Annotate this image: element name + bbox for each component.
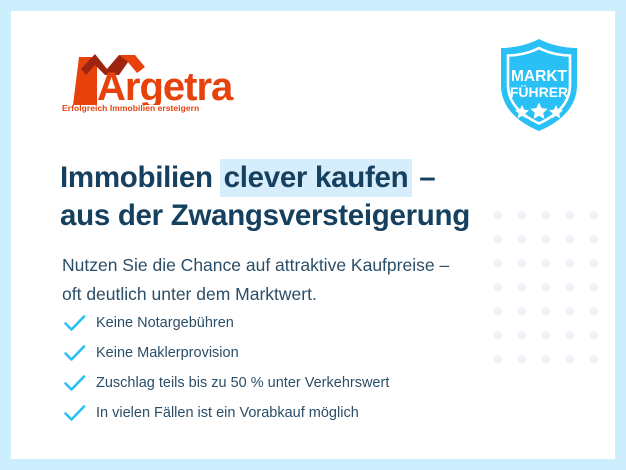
page-title: Immobilien clever kaufen – aus der Zwang… bbox=[60, 159, 540, 235]
dot bbox=[589, 355, 598, 364]
dot bbox=[541, 355, 550, 364]
dot bbox=[589, 283, 598, 292]
headline-line-2: aus der Zwangsversteigerung bbox=[60, 197, 540, 235]
benefit-list: Keine NotargebührenKeine Maklerprovision… bbox=[63, 308, 533, 428]
list-item: Keine Notargebühren bbox=[63, 308, 533, 338]
dot bbox=[565, 307, 574, 316]
dot bbox=[589, 259, 598, 268]
dot bbox=[565, 283, 574, 292]
dot bbox=[541, 235, 550, 244]
check-icon bbox=[63, 344, 87, 362]
dot bbox=[517, 235, 526, 244]
dot bbox=[589, 331, 598, 340]
headline-line-1: Immobilien clever kaufen – bbox=[60, 159, 540, 197]
list-item: Zuschlag teils bis zu 50 % unter Verkehr… bbox=[63, 368, 533, 398]
argetra-a-roof-icon: Argetra bbox=[59, 49, 259, 105]
benefit-label: In vielen Fällen ist ein Vorabkauf mögli… bbox=[96, 404, 359, 422]
list-item: Keine Maklerprovision bbox=[63, 338, 533, 368]
dot bbox=[541, 331, 550, 340]
benefit-label: Keine Notargebühren bbox=[96, 314, 234, 332]
dot bbox=[565, 355, 574, 364]
benefit-label: Zuschlag teils bis zu 50 % unter Verkehr… bbox=[96, 374, 389, 392]
dot bbox=[565, 211, 574, 220]
badge-line2: FÜHRER bbox=[510, 84, 568, 100]
markt-fuehrer-badge: MARKT FÜHRER bbox=[496, 37, 582, 133]
dot bbox=[589, 235, 598, 244]
argetra-logo[interactable]: Argetra Erfolgreich Immobilien ersteiger… bbox=[59, 49, 259, 123]
dot bbox=[565, 235, 574, 244]
shield-icon: MARKT FÜHRER bbox=[496, 37, 582, 133]
headline-highlight: clever kaufen bbox=[220, 159, 413, 197]
dot bbox=[541, 211, 550, 220]
promo-banner: Argetra Erfolgreich Immobilien ersteiger… bbox=[0, 0, 626, 470]
dot bbox=[589, 307, 598, 316]
list-item: In vielen Fällen ist ein Vorabkauf mögli… bbox=[63, 398, 533, 428]
dot bbox=[493, 235, 502, 244]
check-icon bbox=[63, 314, 87, 332]
dot bbox=[565, 331, 574, 340]
subtitle-line-2: oft deutlich unter dem Marktwert. bbox=[62, 280, 562, 309]
subtitle-line-1: Nutzen Sie die Chance auf attraktive Kau… bbox=[62, 251, 562, 280]
headline-suffix: – bbox=[411, 161, 435, 194]
page-subtitle: Nutzen Sie die Chance auf attraktive Kau… bbox=[62, 251, 562, 309]
dot bbox=[589, 211, 598, 220]
headline-prefix: Immobilien bbox=[60, 161, 221, 194]
dot bbox=[565, 259, 574, 268]
logo-tagline: Erfolgreich Immobilien ersteigern bbox=[62, 103, 199, 113]
benefit-label: Keine Maklerprovision bbox=[96, 344, 239, 362]
svg-text:Argetra: Argetra bbox=[97, 65, 234, 105]
banner-card: Argetra Erfolgreich Immobilien ersteiger… bbox=[11, 11, 615, 459]
check-icon bbox=[63, 374, 87, 392]
badge-line1: MARKT bbox=[511, 68, 567, 85]
check-icon bbox=[63, 404, 87, 422]
